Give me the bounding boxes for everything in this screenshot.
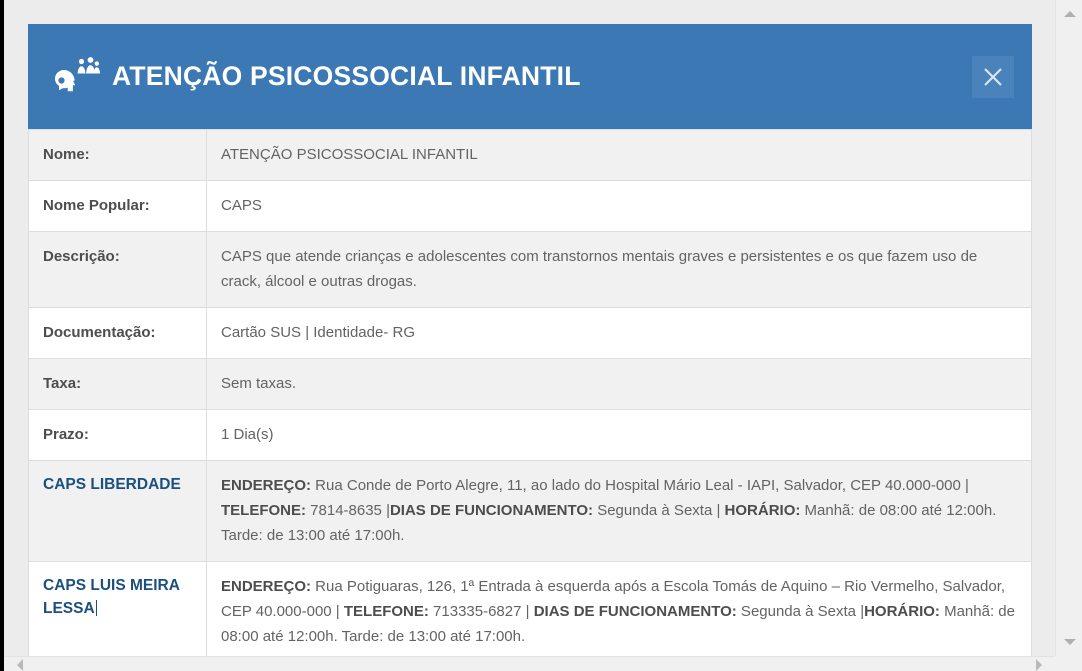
value-text: Rua Conde de Porto Alegre, 11, ao lado d… xyxy=(311,477,969,494)
value-label: ENDEREÇO: xyxy=(221,477,311,494)
value-label: HORÁRIO: xyxy=(725,502,801,519)
table-row: Documentação:Cartão SUS | Identidade- RG xyxy=(29,308,1032,359)
screen: ATENÇÃO PSICOSSOCIAL INFANTIL Nome:ATENÇ… xyxy=(0,0,1082,671)
field-value-cell: Sem taxas. xyxy=(207,359,1032,410)
field-value-cell: ENDEREÇO: Rua Potiguaras, 126, 1ª Entrad… xyxy=(207,562,1032,657)
table-row: Prazo:1 Dia(s) xyxy=(29,410,1032,461)
value-label: DIAS DE FUNCIONAMENTO: xyxy=(390,502,593,519)
field-label-cell: Documentação: xyxy=(29,308,207,359)
field-value-cell: 1 Dia(s) xyxy=(207,410,1032,461)
field-value-cell: CAPS que atende crianças e adolescentes … xyxy=(207,232,1032,308)
value-text: Segunda à Sexta | xyxy=(593,502,725,519)
vertical-scrollbar[interactable] xyxy=(1055,0,1082,656)
unit-name-cell: CAPS LUIS MEIRA LESSA xyxy=(29,562,207,657)
table-row: Descrição:CAPS que atende crianças e ado… xyxy=(29,232,1032,308)
horizontal-scrollbar[interactable] xyxy=(4,656,1055,671)
field-label-cell: Descrição: xyxy=(29,232,207,308)
scroll-down-arrow[interactable] xyxy=(1056,632,1082,652)
modal-title: ATENÇÃO PSICOSSOCIAL INFANTIL xyxy=(112,61,972,92)
page-canvas: ATENÇÃO PSICOSSOCIAL INFANTIL Nome:ATENÇ… xyxy=(4,0,1055,656)
psychosocial-head-family-icon xyxy=(48,53,102,101)
value-label: HORÁRIO: xyxy=(864,603,940,620)
field-value-cell: ENDEREÇO: Rua Conde de Porto Alegre, 11,… xyxy=(207,461,1032,562)
text-caret xyxy=(96,600,97,616)
scroll-up-arrow[interactable] xyxy=(1056,4,1082,24)
table-row: Nome Popular:CAPS xyxy=(29,181,1032,232)
value-label: TELEFONE: xyxy=(221,502,306,519)
window-left-border xyxy=(0,0,4,671)
field-value-cell: Cartão SUS | Identidade- RG xyxy=(207,308,1032,359)
table-row: CAPS LIBERDADEENDEREÇO: Rua Conde de Por… xyxy=(29,461,1032,562)
table-row: Taxa:Sem taxas. xyxy=(29,359,1032,410)
value-label: TELEFONE: xyxy=(344,603,429,620)
value-text: 7814-8635 | xyxy=(306,502,390,519)
value-text: 713335-6827 | xyxy=(429,603,534,620)
unit-name-cell: CAPS LIBERDADE xyxy=(29,461,207,562)
field-value-cell: CAPS xyxy=(207,181,1032,232)
scrollbar-corner xyxy=(1055,656,1082,671)
scroll-left-arrow[interactable] xyxy=(10,657,30,671)
table-row: Nome:ATENÇÃO PSICOSSOCIAL INFANTIL xyxy=(29,130,1032,181)
close-icon[interactable] xyxy=(972,56,1014,98)
value-label: ENDEREÇO: xyxy=(221,578,311,595)
field-label-cell: Nome: xyxy=(29,130,207,181)
service-info-table: Nome:ATENÇÃO PSICOSSOCIAL INFANTILNome P… xyxy=(28,129,1032,656)
field-label-cell: Nome Popular: xyxy=(29,181,207,232)
field-label-cell: Prazo: xyxy=(29,410,207,461)
field-label-cell: Taxa: xyxy=(29,359,207,410)
value-label: DIAS DE FUNCIONAMENTO: xyxy=(534,603,737,620)
field-value-cell: ATENÇÃO PSICOSSOCIAL INFANTIL xyxy=(207,130,1032,181)
modal-header: ATENÇÃO PSICOSSOCIAL INFANTIL xyxy=(28,24,1032,129)
table-row: CAPS LUIS MEIRA LESSAENDEREÇO: Rua Potig… xyxy=(29,562,1032,657)
scroll-right-arrow[interactable] xyxy=(1029,657,1049,671)
service-detail-modal: ATENÇÃO PSICOSSOCIAL INFANTIL Nome:ATENÇ… xyxy=(28,24,1032,656)
value-text: Segunda à Sexta | xyxy=(737,603,864,620)
